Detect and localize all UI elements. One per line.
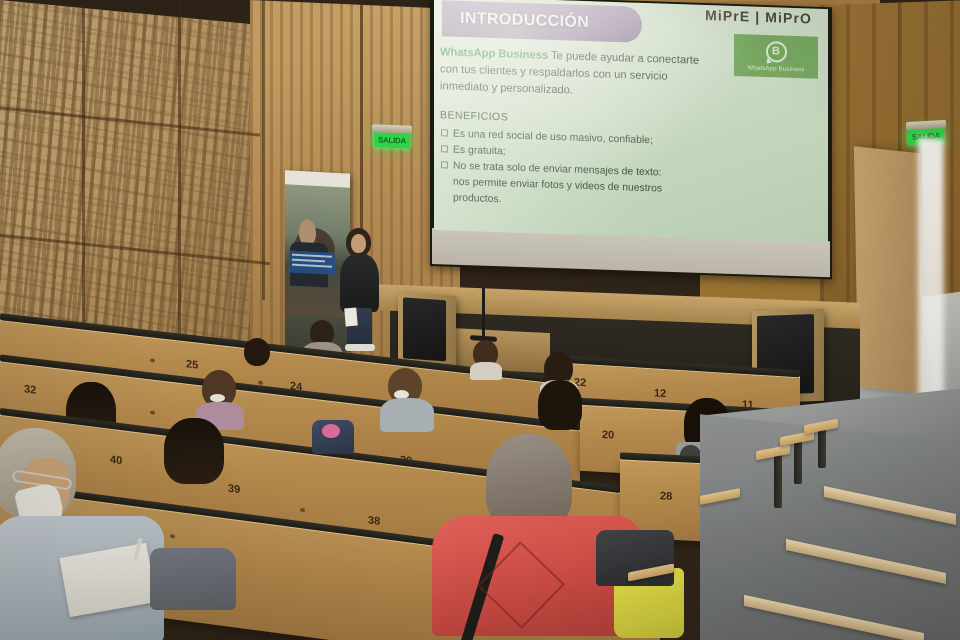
loudspeaker-left: [398, 292, 456, 370]
banner-caption-block: [289, 251, 335, 275]
whatsapp-bubble-icon: B: [766, 40, 787, 62]
slide-body: WhatsApp Business Te puede ayudar a cone…: [440, 44, 702, 215]
daylight-glow: [918, 137, 944, 420]
seat-number: 38: [368, 514, 380, 528]
attendee-head: [538, 380, 582, 430]
speaker-grille: [403, 297, 446, 361]
presenter-face: [351, 234, 366, 253]
presenter-torso: [340, 254, 379, 312]
seat-screw-hole: [150, 410, 155, 415]
seat-screw-hole: [150, 358, 155, 363]
presenter-shoes: [345, 344, 375, 351]
auditorium-scene: INTRODUCCIÓN MiPrE | MiPrO B WhatsApp Bu…: [0, 0, 960, 640]
projection-screen: INTRODUCCIÓN MiPrE | MiPrO B WhatsApp Bu…: [434, 0, 828, 243]
microphone-stand: [482, 288, 485, 340]
slide-lead-brand: WhatsApp Business: [440, 46, 548, 62]
slide-title-bar: INTRODUCCIÓN: [442, 0, 642, 43]
seat-number: 32: [24, 383, 36, 396]
attendee-torso: [470, 362, 502, 380]
slide-benefits-list: Es una red social de uso masivo, confiab…: [440, 126, 702, 214]
seat-number: 12: [654, 387, 666, 400]
attendee-hair-tie: [210, 394, 225, 402]
aisle-post: [774, 452, 782, 508]
attendee-back-1: [240, 338, 276, 372]
attendee-back-4: [534, 380, 588, 442]
slide-lead-paragraph: WhatsApp Business Te puede ayudar a cone…: [440, 44, 702, 104]
open-door[interactable]: [854, 146, 924, 393]
slide-title: INTRODUCCIÓN: [460, 10, 589, 32]
attendee-head: [244, 338, 270, 366]
attendee-head: [164, 418, 224, 484]
exit-sign-icon: SALIDA: [374, 131, 410, 148]
backpack-accent: [322, 424, 340, 438]
wall-seam: [178, 0, 181, 350]
exit-sign-label: SALIDA: [374, 131, 410, 148]
attendee-pink: [380, 368, 436, 432]
wall-seam: [82, 0, 85, 340]
presenter-handout: [344, 308, 358, 327]
attendee-back-2: [470, 340, 504, 376]
carpet-steps: [700, 414, 960, 640]
whatsapp-logo-label: WhatsApp Business: [747, 65, 804, 73]
wall-seam: [262, 0, 265, 300]
attendee-torso: [380, 398, 434, 432]
attendee-grey-bag: [150, 548, 236, 610]
whatsapp-business-logo: B WhatsApp Business: [734, 34, 818, 79]
seat-screw-hole: [300, 508, 305, 513]
seat-number: 28: [660, 490, 672, 503]
whatsapp-logo-glyph: B: [772, 45, 780, 57]
attendee-mid-left: [164, 418, 236, 494]
slide-brandmark: MiPrE | MiPrO: [705, 7, 812, 27]
